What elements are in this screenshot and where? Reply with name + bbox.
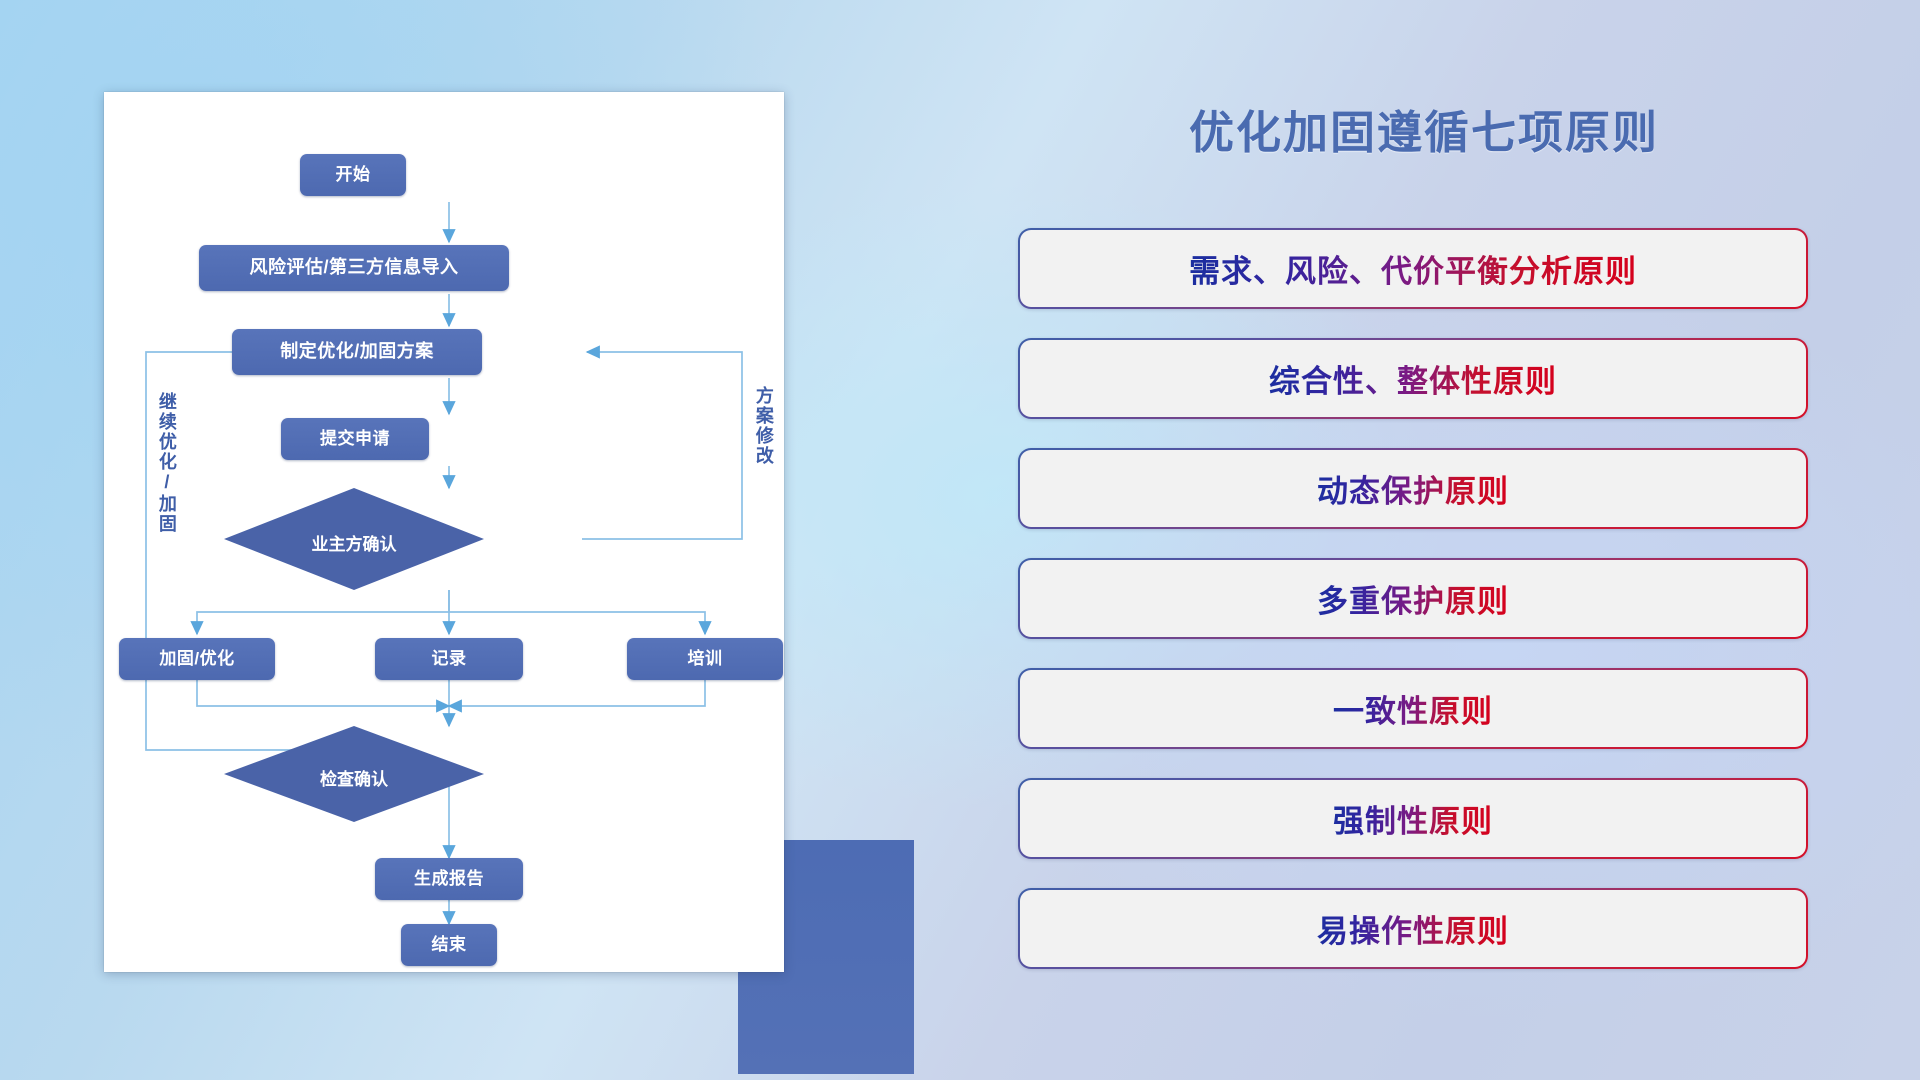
flow-node-label: 提交申请 bbox=[320, 430, 390, 449]
principle-card[interactable]: 一致性原则 bbox=[1018, 668, 1808, 749]
principle-card[interactable]: 需求、风险、代价平衡分析原则 bbox=[1018, 228, 1808, 309]
flow-node-training[interactable]: 培训 bbox=[627, 638, 783, 680]
principle-card-inner: 动态保护原则 bbox=[1020, 450, 1806, 527]
principle-card[interactable]: 综合性、整体性原则 bbox=[1018, 338, 1808, 419]
principle-card[interactable]: 易操作性原则 bbox=[1018, 888, 1808, 969]
flow-node-label: 培训 bbox=[688, 650, 723, 669]
principle-label: 综合性、整体性原则 bbox=[1269, 356, 1557, 401]
flowchart-card: 开始 风险评估/第三方信息导入 制定优化/加固方案 提交申请 业主方确认 加固/… bbox=[104, 92, 784, 972]
principle-label: 强制性原则 bbox=[1333, 796, 1493, 841]
flow-node-label: 加固/优化 bbox=[159, 650, 234, 669]
principle-card-inner: 易操作性原则 bbox=[1020, 890, 1806, 967]
principle-card-inner: 多重保护原则 bbox=[1020, 560, 1806, 637]
flow-node-label: 制定优化/加固方案 bbox=[280, 342, 434, 362]
principles-panel: 优化加固遵循七项原则 需求、风险、代价平衡分析原则 综合性、整体性原则 动态保护… bbox=[1018, 96, 1830, 1026]
principles-list: 需求、风险、代价平衡分析原则 综合性、整体性原则 动态保护原则 多重保护原则 一… bbox=[1018, 228, 1830, 998]
flow-node-label: 开始 bbox=[336, 166, 371, 185]
flow-node-start[interactable]: 开始 bbox=[300, 154, 406, 196]
principle-label: 易操作性原则 bbox=[1317, 906, 1509, 951]
edge-label-plan-revision: 方案修改 bbox=[754, 386, 773, 466]
principle-card-inner: 强制性原则 bbox=[1020, 780, 1806, 857]
flow-node-label: 风险评估/第三方信息导入 bbox=[250, 258, 459, 278]
flow-node-label-check-confirm: 检查确认 bbox=[224, 765, 484, 790]
flow-node-label: 记录 bbox=[432, 650, 467, 669]
flow-node-record[interactable]: 记录 bbox=[375, 638, 523, 680]
flow-node-risk-assessment[interactable]: 风险评估/第三方信息导入 bbox=[199, 245, 509, 291]
flowchart-panel: 开始 风险评估/第三方信息导入 制定优化/加固方案 提交申请 业主方确认 加固/… bbox=[104, 92, 812, 992]
principle-label: 动态保护原则 bbox=[1317, 466, 1509, 511]
principle-label: 多重保护原则 bbox=[1317, 576, 1509, 621]
flow-node-reinforce[interactable]: 加固/优化 bbox=[119, 638, 275, 680]
principle-card-inner: 需求、风险、代价平衡分析原则 bbox=[1020, 230, 1806, 307]
flow-node-label: 生成报告 bbox=[414, 870, 484, 889]
edge-label-continue-optimize: 继续优化/加固 bbox=[157, 392, 176, 534]
flow-node-generate-report[interactable]: 生成报告 bbox=[375, 858, 523, 900]
principle-label: 需求、风险、代价平衡分析原则 bbox=[1189, 246, 1637, 291]
principle-label: 一致性原则 bbox=[1333, 686, 1493, 731]
principle-card[interactable]: 多重保护原则 bbox=[1018, 558, 1808, 639]
principle-card-inner: 综合性、整体性原则 bbox=[1020, 340, 1806, 417]
flow-node-end[interactable]: 结束 bbox=[401, 924, 497, 966]
page-title: 优化加固遵循七项原则 bbox=[1018, 96, 1830, 161]
principle-card[interactable]: 动态保护原则 bbox=[1018, 448, 1808, 529]
flow-node-submit-application[interactable]: 提交申请 bbox=[281, 418, 429, 460]
principle-card[interactable]: 强制性原则 bbox=[1018, 778, 1808, 859]
principle-card-inner: 一致性原则 bbox=[1020, 670, 1806, 747]
flow-node-plan[interactable]: 制定优化/加固方案 bbox=[232, 329, 482, 375]
flow-node-label: 结束 bbox=[432, 936, 467, 955]
flow-node-label-owner-confirm: 业主方确认 bbox=[224, 530, 484, 555]
